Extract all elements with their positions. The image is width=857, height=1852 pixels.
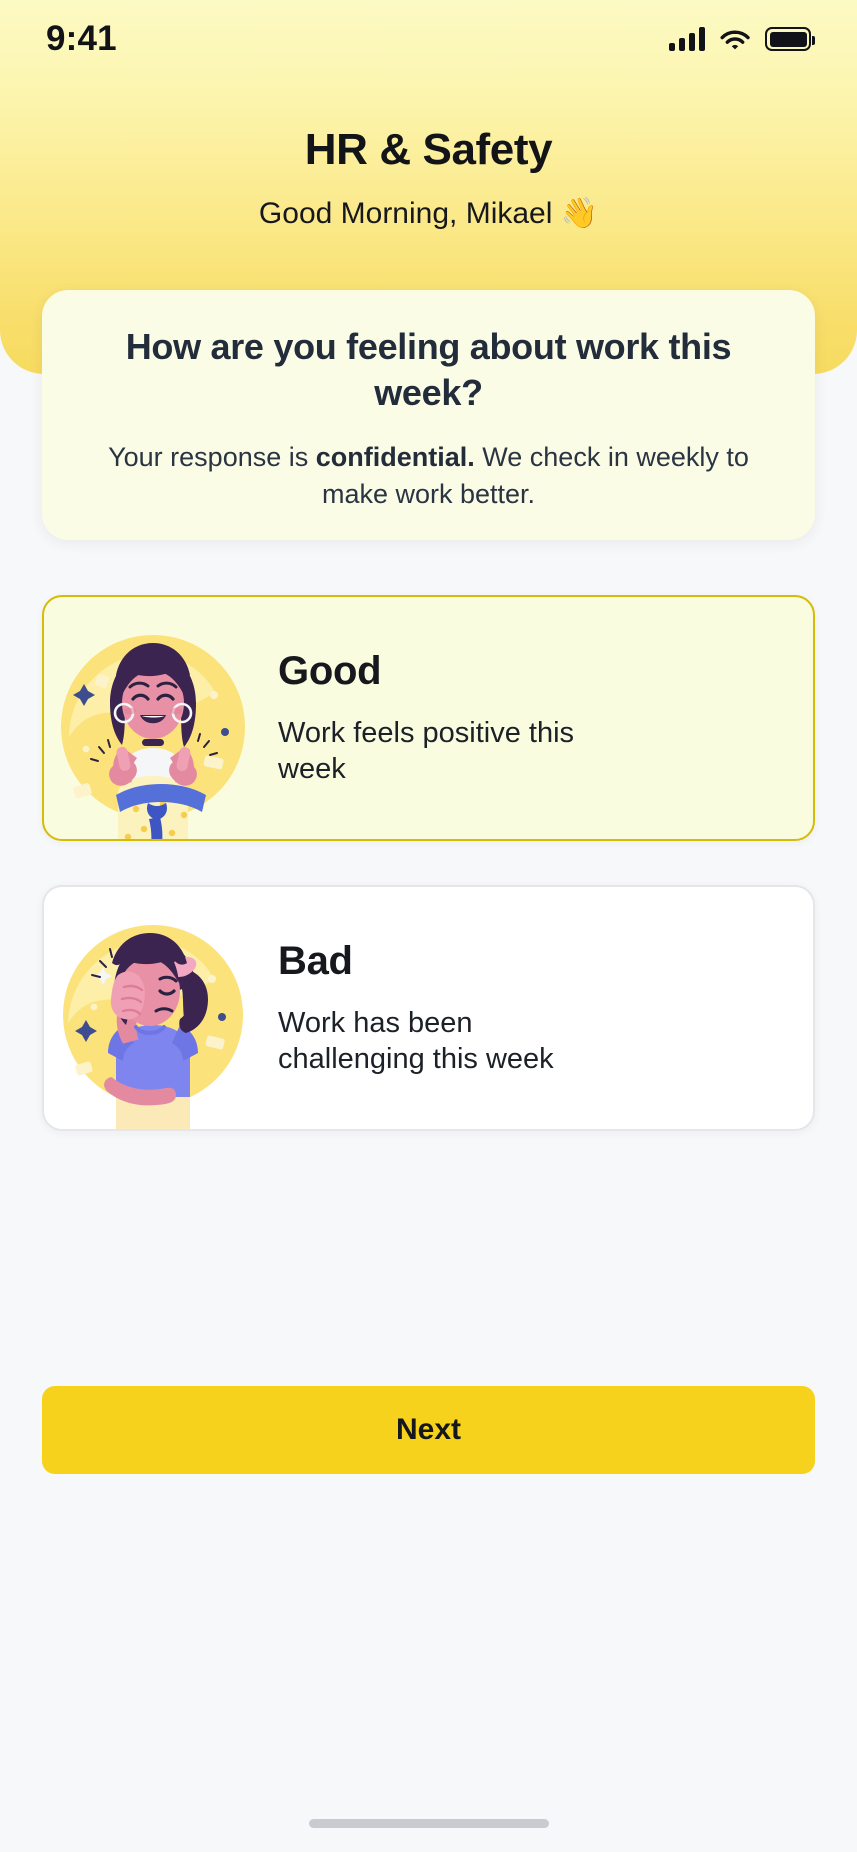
option-card-good[interactable]: Good Work feels positive this week [42,595,815,841]
option-card-bad[interactable]: Bad Work has been challenging this week [42,885,815,1131]
option-good-text: Good Work feels positive this week [262,649,608,787]
note-text-before: Your response is [108,442,316,472]
option-good-label: Good [278,649,608,694]
woman-thumbs-up-illustration [44,597,262,839]
status-bar: 9:41 [0,0,857,78]
survey-question-title: How are you feeling about work this week… [90,324,767,415]
option-bad-text: Bad Work has been challenging this week [262,939,608,1077]
option-good-subtitle: Work feels positive this week [278,716,608,787]
greeting-text: Good Morning, Mikael 👋 [0,196,857,231]
mobile-screen: 9:41 HR & Safety Good Morning, Mikael 👋 [0,0,857,1852]
option-bad-subtitle: Work has been challenging this week [278,1006,608,1077]
survey-intro-card: How are you feeling about work this week… [42,290,815,540]
woman-facepalm-illustration [44,887,262,1129]
cellular-signal-icon [669,27,705,51]
page-title: HR & Safety [0,125,857,175]
survey-confidential-note: Your response is confidential. We check … [90,439,767,513]
status-bar-time: 9:41 [46,19,117,59]
home-indicator[interactable] [309,1819,549,1828]
battery-full-icon [765,27,811,51]
status-bar-icons [669,27,811,51]
option-bad-label: Bad [278,939,608,984]
wifi-icon [719,27,751,51]
next-button[interactable]: Next [42,1386,815,1474]
note-text-bold: confidential. [316,442,475,472]
